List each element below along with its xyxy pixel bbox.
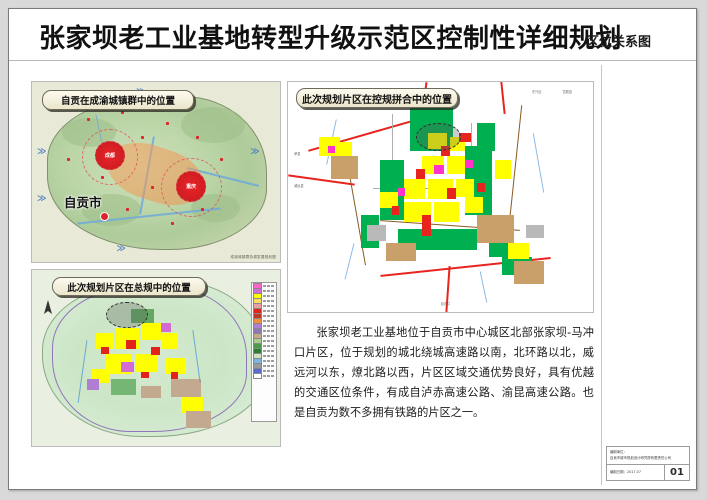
legend-text — [263, 330, 275, 332]
legend-text — [263, 360, 275, 362]
landuse-parcel — [161, 323, 171, 332]
landuse-parcel — [171, 379, 201, 397]
landuse-parcel — [101, 347, 108, 354]
civic-block — [398, 188, 406, 196]
master-plan-graphic — [32, 270, 280, 446]
legend-text — [263, 300, 275, 302]
landuse-parcel — [126, 340, 136, 349]
legend-text — [263, 375, 275, 377]
residential-block — [404, 179, 425, 200]
title-block: 编制单位： 自贡市城市规划设计研究院有限责任公司 编制日期：2017.07 01 — [606, 446, 690, 481]
industrial-block — [477, 215, 514, 243]
city-node — [67, 158, 70, 161]
city-node — [101, 176, 104, 179]
city-node — [121, 111, 124, 114]
stream-line — [533, 133, 544, 192]
city-node — [201, 208, 204, 211]
panel-region-caption: 成渝城镇群协调发展规划图 — [230, 255, 276, 260]
residential-block — [495, 160, 510, 178]
poster-page: 张家坝老工业基地转型升级示范区控制性详细规划 区位关系图 成都 — [8, 8, 697, 490]
city-node — [87, 118, 90, 121]
residential-block — [465, 197, 483, 213]
column-divider — [601, 65, 602, 485]
legend-text — [263, 350, 275, 352]
panel-regulatory-ribbon: 此次规划片区在控规拼合中的位置 — [296, 88, 458, 108]
landuse-parcel — [141, 372, 148, 378]
expressway-line — [500, 82, 505, 114]
landuse-parcel — [87, 379, 99, 390]
north-arrow-icon — [42, 300, 54, 324]
organization-block: 编制单位： 自贡市城市规划设计研究院有限责任公司 — [607, 447, 689, 465]
description-paragraph: 张家坝老工业基地位于自贡市中心城区北部张家坝-马冲口片区，位于规划的城北绕城高速… — [294, 323, 594, 423]
regulatory-map-graphic: 东兴区 富顺县 荣县 威远县 自流井 — [288, 82, 593, 312]
city-label-zigong: 自贡市 — [64, 192, 102, 211]
planning-area-highlight — [106, 302, 148, 329]
landuse-parcel — [141, 323, 161, 341]
legend-item — [253, 374, 275, 379]
date-and-page-row: 编制日期：2017.07 01 — [607, 465, 689, 480]
hub-chengdu-label: 成都 — [105, 152, 115, 159]
residential-block — [456, 179, 474, 197]
civic-block — [328, 146, 336, 153]
landuse-parcel — [186, 411, 211, 429]
city-node — [166, 122, 169, 125]
sheet-subtitle: 区位关系图 — [586, 31, 651, 50]
date-block: 编制日期：2017.07 — [607, 468, 664, 477]
page-number: 01 — [664, 465, 689, 480]
commercial-block — [422, 215, 431, 236]
city-node — [126, 208, 129, 211]
landuse-parcel — [171, 372, 178, 379]
landuse-parcel — [121, 362, 133, 373]
legend-text — [263, 310, 275, 312]
legend-text — [263, 315, 275, 317]
legend-text — [263, 345, 275, 347]
legend-text — [263, 355, 275, 357]
industrial-block — [386, 243, 417, 261]
panel-regional-location[interactable]: 成都 重庆 ≫ ≫ ≫ — [31, 81, 281, 263]
industrial-block — [331, 156, 358, 179]
landuse-parcel — [161, 333, 178, 349]
date-label: 编制日期： — [610, 470, 627, 474]
residential-block — [508, 243, 529, 259]
poster-header: 张家坝老工业基地转型升级示范区控制性详细规划 区位关系图 — [9, 9, 696, 61]
landuse-parcel — [141, 386, 161, 398]
panel-master-ribbon: 此次规划片区在总规中的位置 — [52, 277, 206, 296]
utility-block — [526, 225, 544, 239]
commercial-block — [477, 183, 485, 192]
zigong-marker — [100, 212, 109, 221]
hill-area — [181, 107, 245, 143]
stream-line — [345, 243, 355, 279]
legend-text — [263, 340, 275, 342]
city-node — [141, 136, 144, 139]
commercial-block — [392, 206, 400, 215]
civic-block — [434, 165, 443, 174]
green-belt — [477, 123, 495, 151]
green-space — [111, 379, 136, 395]
legend-text — [263, 320, 275, 322]
legend-text — [263, 295, 275, 297]
legend-text — [263, 370, 275, 372]
poster-body: 成都 重庆 ≫ ≫ ≫ — [9, 61, 696, 491]
legend-text — [263, 285, 275, 287]
planning-area-highlight — [416, 123, 461, 150]
hub-chongqing[interactable]: 重庆 — [176, 171, 207, 202]
legend-text — [263, 365, 275, 367]
legend-text — [263, 325, 275, 327]
legend-swatch — [253, 373, 262, 379]
legend-text — [263, 290, 275, 292]
panel-region-ribbon: 自贡在成渝城镇群中的位置 — [42, 90, 194, 110]
commercial-block — [447, 188, 456, 200]
industrial-block — [514, 261, 545, 284]
city-node — [196, 136, 199, 139]
landuse-legend — [251, 282, 277, 422]
date-value: 2017.07 — [627, 470, 641, 474]
legend-text — [263, 335, 275, 337]
panel-master-plan-location[interactable]: 此次规划片区在总规中的位置 — [31, 269, 281, 447]
legend-text — [263, 305, 275, 307]
hub-chengdu[interactable]: 成都 — [95, 141, 124, 170]
landuse-parcel — [136, 354, 158, 372]
residential-block — [447, 156, 465, 174]
utility-block — [367, 225, 385, 241]
stream-line — [480, 271, 488, 303]
hub-chongqing-label: 重庆 — [186, 183, 196, 190]
residential-block — [434, 202, 458, 223]
organization-name: 自贡市城市规划设计研究院有限责任公司 — [610, 455, 686, 461]
civic-block — [465, 160, 473, 168]
commercial-block — [416, 169, 425, 178]
landuse-parcel — [151, 347, 160, 355]
panel-regulatory-composite[interactable]: 东兴区 富顺县 荣县 威远县 自流井 此次规划片区在控规拼合中的位置 — [287, 81, 594, 313]
page-title: 张家坝老工业基地转型升级示范区控制性详细规划 — [39, 18, 622, 55]
